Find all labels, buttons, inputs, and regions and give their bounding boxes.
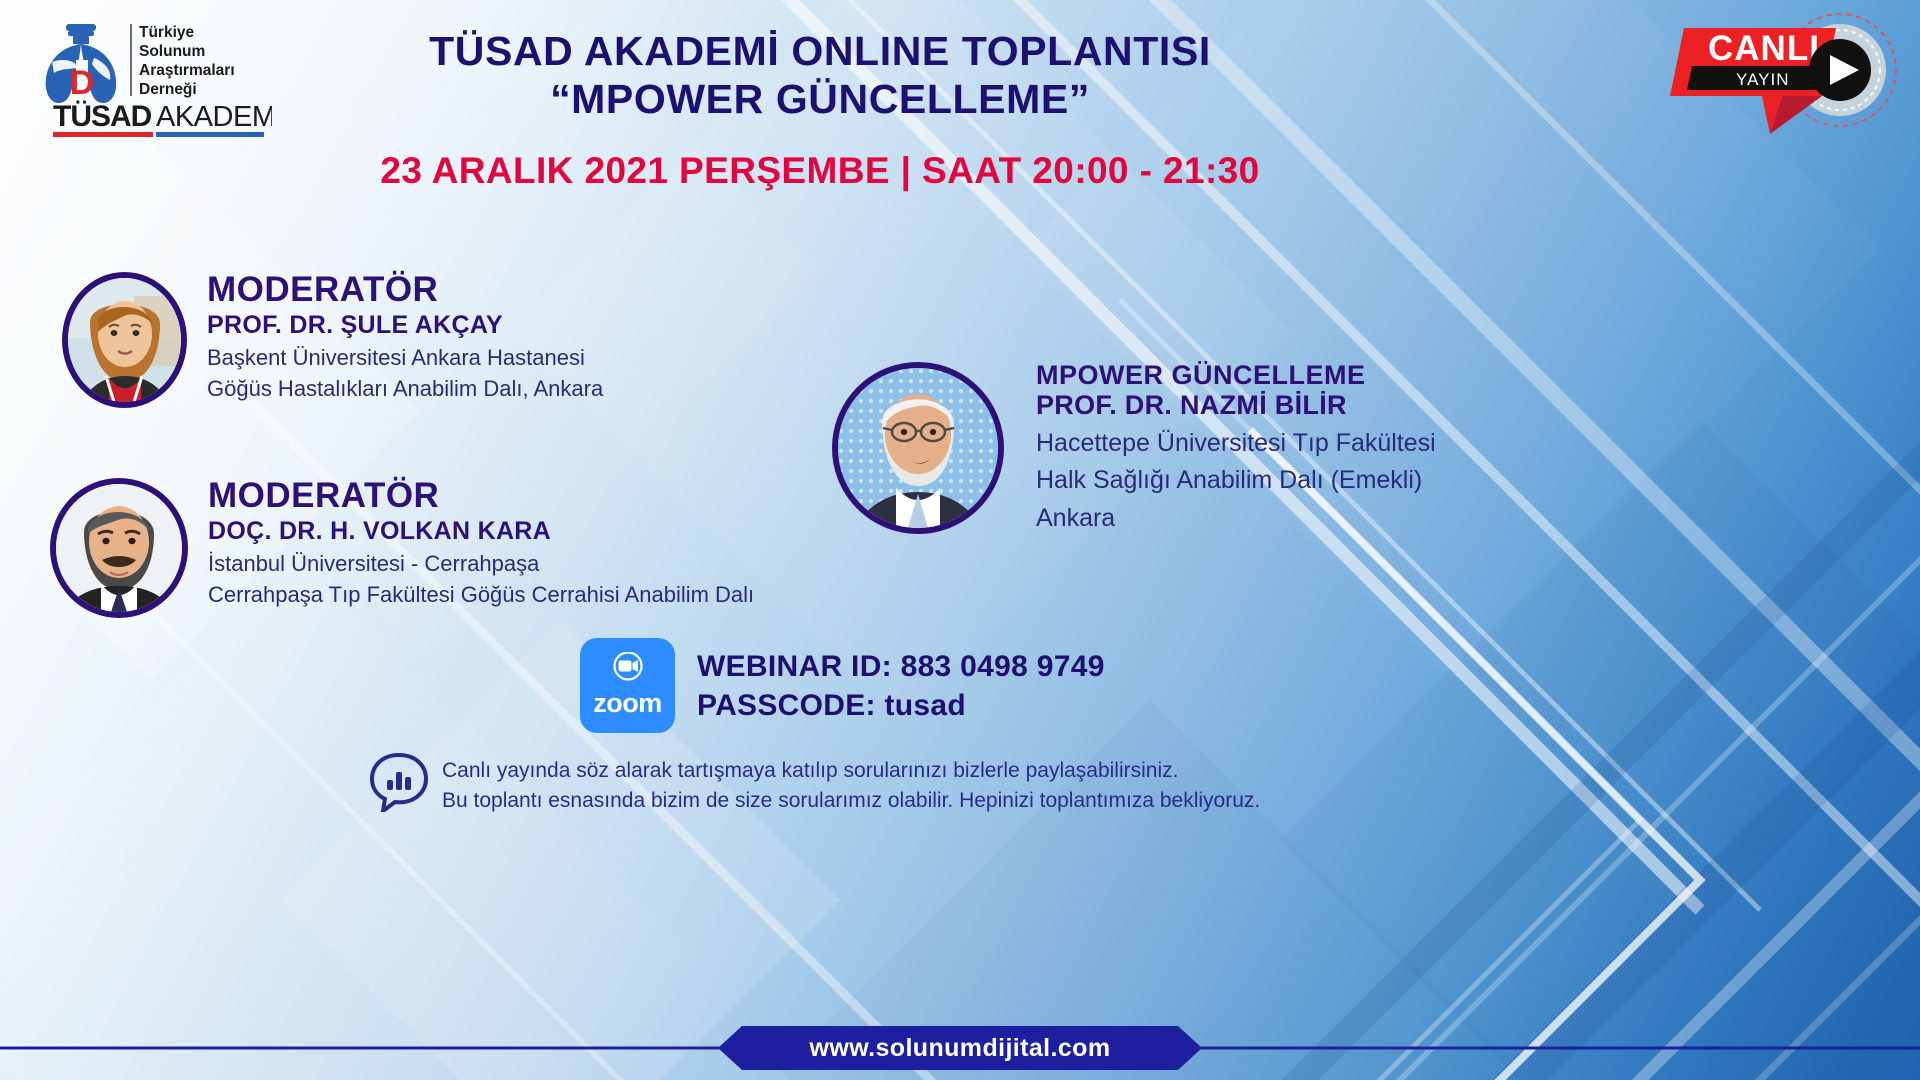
portrait-sule-akcay [68, 278, 181, 402]
svg-text:D: D [70, 64, 95, 102]
person-name: PROF. DR. ŞULE AKÇAY [207, 310, 603, 341]
zoom-join-info: zoom WEBINAR ID: 883 0498 9749 PASSCODE:… [580, 638, 1105, 733]
live-badge-primary: CANLI [1708, 29, 1820, 68]
lung-mark-icon: D [46, 24, 116, 103]
event-date-time: 23 ARALIK 2021 PERŞEMBE | SAAT 20:00 - 2… [300, 150, 1340, 192]
avatar [50, 478, 188, 618]
logo-org-line-2: Araştırmaları [139, 62, 235, 79]
person-affiliation-line: Hacettepe Üniversitesi Tıp Fakültesi [1036, 426, 1436, 461]
person-affiliation-line: Göğüs Hastalıkları Anabilim Dalı, Ankara [207, 374, 603, 403]
chat-bubble-icon [368, 752, 430, 812]
video-camera-icon [603, 652, 653, 686]
person-affiliation-line: Başkent Üniversitesi Ankara Hastanesi [207, 343, 603, 372]
portrait-nazmi-bilir [838, 368, 998, 528]
logo-underline-blue [156, 132, 264, 137]
person-affiliation-line: Halk Sağlığı Anabilim Dalı (Emekli) [1036, 463, 1436, 498]
participation-note: Canlı yayında söz alarak tartışmaya katı… [368, 752, 1260, 816]
logo-org-line-1: Solunum [139, 43, 205, 60]
person-text: MODERATÖR PROF. DR. ŞULE AKÇAY Başkent Ü… [207, 272, 603, 403]
page-title-line-2: “MPOWER GÜNCELLEME” [300, 76, 1340, 124]
avatar [832, 362, 1004, 534]
speaker-1: MPOWER GÜNCELLEME PROF. DR. NAZMİ BİLİR … [832, 362, 1436, 535]
person-name: DOÇ. DR. H. VOLKAN KARA [208, 516, 754, 547]
person-affiliation-line: Ankara [1036, 501, 1436, 536]
webinar-passcode: PASSCODE: tusad [697, 686, 1105, 725]
footer-bar: www.solunumdijital.com [0, 1018, 1920, 1080]
person-affiliation-line: İstanbul Üniversitesi - Cerrahpaşa [208, 549, 754, 578]
note-line-2: Bu toplantı esnasında bizim de size soru… [442, 786, 1260, 816]
live-badge-secondary: YAYIN [1736, 70, 1790, 89]
person-role: MPOWER GÜNCELLEME [1036, 362, 1436, 389]
website-url[interactable]: www.solunumdijital.com [810, 1026, 1111, 1070]
person-role: MODERATÖR [208, 478, 754, 513]
zoom-credentials: WEBINAR ID: 883 0498 9749 PASSCODE: tusa… [697, 647, 1105, 725]
zoom-logo[interactable]: zoom [580, 638, 675, 733]
logo-org-line-3: Derneği [139, 81, 197, 98]
person-name: PROF. DR. NAZMİ BİLİR [1036, 389, 1436, 423]
zoom-wordmark: zoom [593, 688, 662, 719]
webinar-id: WEBINAR ID: 883 0498 9749 [697, 647, 1105, 686]
logo-org-line-0: Türkiye [139, 24, 195, 41]
person-affiliation-line: Cerrahpaşa Tıp Fakültesi Göğüs Cerrahisi… [208, 580, 754, 609]
logo-akademi: AKADEMİ [156, 100, 272, 133]
note-line-1: Canlı yayında söz alarak tartışmaya katı… [442, 756, 1260, 786]
moderator-1: MODERATÖR PROF. DR. ŞULE AKÇAY Başkent Ü… [62, 272, 603, 408]
avatar [62, 272, 187, 408]
logo-underline-red [53, 132, 153, 137]
page-title-line-1: TÜSAD AKADEMİ ONLINE TOPLANTISI [300, 28, 1340, 76]
tusad-akademi-logo: D Türkiye Solunum Araştırmaları Derneği … [32, 18, 272, 143]
person-text: MPOWER GÜNCELLEME PROF. DR. NAZMİ BİLİR … [1036, 362, 1436, 535]
portrait-volkan-kara [56, 484, 182, 612]
person-role: MODERATÖR [207, 272, 603, 307]
logo-acronym: TÜSAD [53, 100, 152, 133]
person-text: MODERATÖR DOÇ. DR. H. VOLKAN KARA İstanb… [208, 478, 754, 609]
note-text: Canlı yayında söz alarak tartışmaya katı… [442, 756, 1260, 816]
poster-stage: D Türkiye Solunum Araştırmaları Derneği … [0, 0, 1920, 1080]
header-titles: TÜSAD AKADEMİ ONLINE TOPLANTISI “MPOWER … [300, 28, 1340, 192]
moderator-2: MODERATÖR DOÇ. DR. H. VOLKAN KARA İstanb… [50, 478, 754, 618]
live-broadcast-badge: CANLI YAYIN [1670, 8, 1900, 148]
